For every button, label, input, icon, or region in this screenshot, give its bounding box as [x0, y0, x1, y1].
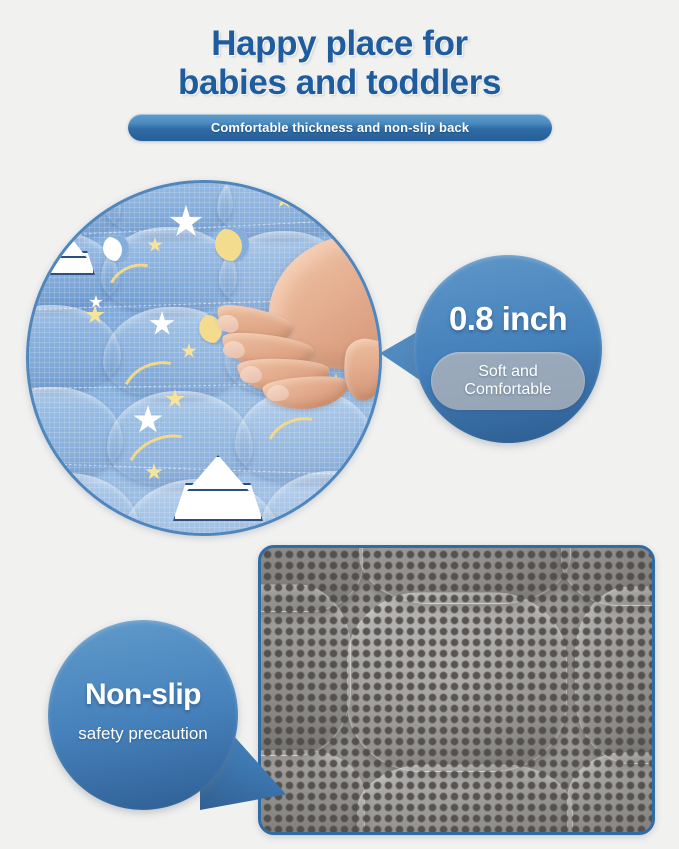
page-title: Happy place for babies and toddlers	[0, 24, 679, 102]
nonslip-callout-bubble: Non-slip safety precaution	[48, 620, 238, 810]
thickness-callout-bubble: 0.8 inch Soft and Comfortable	[414, 255, 602, 443]
header-section: Happy place for babies and toddlers Comf…	[0, 0, 679, 160]
thickness-callout: 0.8 inch Soft and Comfortable	[380, 255, 602, 458]
nonslip-callout: Non-slip safety precaution	[48, 620, 286, 810]
thickness-value: 0.8 inch	[414, 300, 602, 338]
subtitle-banner: Comfortable thickness and non-slip back	[128, 114, 552, 141]
thickness-pill-line-2: Comfortable	[464, 381, 551, 399]
page-title-line-1: Happy place for	[0, 24, 679, 63]
page-title-line-2: babies and toddlers	[0, 63, 679, 102]
mattress-photo	[26, 180, 382, 536]
subtitle-banner-label: Comfortable thickness and non-slip back	[211, 120, 469, 135]
thickness-pill-line-1: Soft and	[478, 363, 538, 381]
nonslip-title: Non-slip	[48, 678, 238, 712]
thickness-comfort-pill: Soft and Comfortable	[431, 352, 585, 410]
hand-pressing-mattress	[215, 235, 382, 440]
nonslip-backing-photo	[258, 545, 655, 835]
mattress-moon-print	[103, 235, 129, 261]
hand-fingernail	[240, 366, 263, 384]
nonslip-subtitle: safety precaution	[42, 724, 244, 744]
nonslip-grip-dots	[258, 545, 655, 835]
